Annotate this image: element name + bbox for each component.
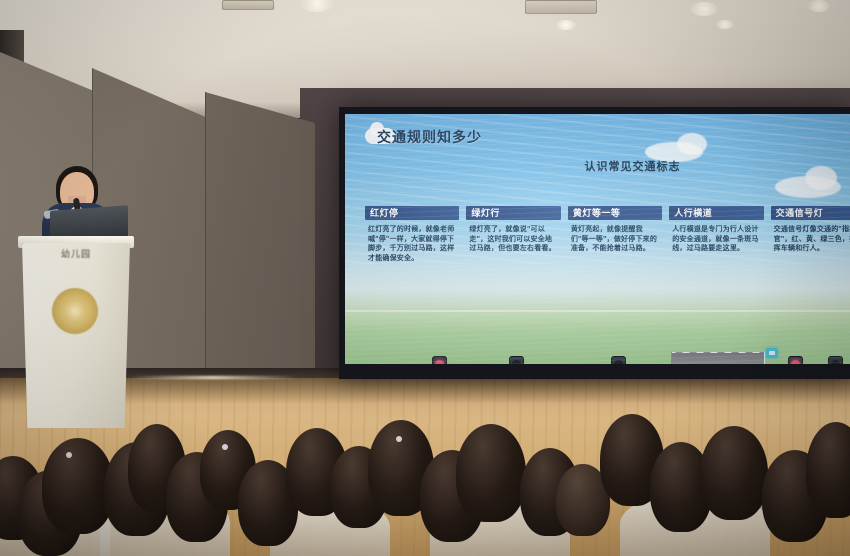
- slide-card: 交通信号灯 交通信号灯像交通的"指挥官"，红、黄、绿三色，指挥车辆和行人。: [771, 206, 850, 356]
- slide-title: 交通规则知多少: [377, 127, 482, 147]
- traffic-light-icon: [509, 356, 524, 364]
- traffic-light-icon: [432, 356, 447, 364]
- slide-subtitle: 认识常见交通标志: [345, 158, 850, 174]
- downlight-icon: [716, 20, 734, 29]
- hair-tie: [396, 436, 402, 442]
- card-heading: 红灯停: [365, 206, 459, 220]
- hair-tie: [222, 444, 228, 450]
- audience-head: [700, 426, 768, 520]
- stage-highlight: [128, 376, 298, 379]
- children-audience: [0, 406, 850, 556]
- assembly-photo: 幼儿园 交通规则知多少 认识常见交通标志 红灯停 红灯亮了的时候，就像老师喊"停…: [0, 0, 850, 556]
- slide-card: 黄灯等一等 黄灯亮起，就像提醒我们"等一等"，做好停下来的准备，不能抢着过马路。: [568, 206, 662, 356]
- slide-badge-icon: [766, 348, 778, 358]
- card-body: 红灯亮了的时候，就像老师喊"停"一样，大家就得停下脚步，千万别过马路，这样才能确…: [365, 225, 459, 263]
- card-art-traffic-light-pair: [774, 356, 850, 364]
- stage-shadow: [0, 378, 850, 404]
- kindergarten-emblem-icon: [52, 288, 98, 334]
- downlight-icon: [808, 0, 830, 12]
- card-art-traffic-light-red: [368, 356, 460, 364]
- downlight-icon: [690, 2, 718, 16]
- ceiling-vent: [222, 0, 274, 10]
- downlight-icon: [300, 0, 334, 12]
- podium-sign: 幼儿园: [24, 247, 128, 260]
- projection-screen: 交通规则知多少 认识常见交通标志 红灯停 红灯亮了的时候，就像老师喊"停"一样，…: [345, 114, 850, 364]
- card-body: 黄灯亮起，就像提醒我们"等一等"，做好停下来的准备，不能抢着过马路。: [568, 225, 662, 254]
- card-heading: 黄灯等一等: [568, 206, 662, 220]
- card-art-traffic-light-green: [469, 356, 561, 364]
- slide-card: 绿灯行 绿灯亮了，就像说"可以走"，这时我们可以安全地过马路，但也要左右看看。: [466, 206, 560, 356]
- wall-panel: [205, 92, 315, 402]
- card-heading: 交通信号灯: [771, 206, 850, 220]
- ceiling-vent: [525, 0, 597, 14]
- card-heading: 绿灯行: [466, 206, 560, 220]
- card-body: 交通信号灯像交通的"指挥官"，红、黄、绿三色，指挥车辆和行人。: [771, 225, 850, 254]
- downlight-icon: [556, 20, 576, 30]
- slide-card-row: 红灯停 红灯亮了的时候，就像老师喊"停"一样，大家就得停下脚步，千万别过马路，这…: [365, 206, 850, 356]
- card-heading: 人行横道: [669, 206, 763, 220]
- traffic-light-icon: [788, 356, 803, 364]
- hair-tie: [66, 452, 72, 458]
- podium: [22, 243, 130, 428]
- card-body: 人行横道是专门为行人设计的安全通道，就像一条斑马线，过马路要走这里。: [669, 225, 763, 254]
- audience-head: [806, 422, 850, 518]
- slide-card: 人行横道 人行横道是专门为行人设计的安全通道，就像一条斑马线，过马路要走这里。: [669, 206, 763, 356]
- card-art-traffic-light-yellow: [571, 356, 663, 364]
- audience-head: [456, 424, 526, 522]
- traffic-light-icon: [611, 356, 626, 364]
- slide-card: 红灯停 红灯亮了的时候，就像老师喊"停"一样，大家就得停下脚步，千万别过马路，这…: [365, 206, 459, 356]
- card-art-crosswalk-photo: [671, 352, 765, 364]
- traffic-light-icon: [828, 356, 843, 364]
- card-body: 绿灯亮了，就像说"可以走"，这时我们可以安全地过马路，但也要左右看看。: [466, 225, 560, 254]
- cloud-icon: [677, 133, 707, 155]
